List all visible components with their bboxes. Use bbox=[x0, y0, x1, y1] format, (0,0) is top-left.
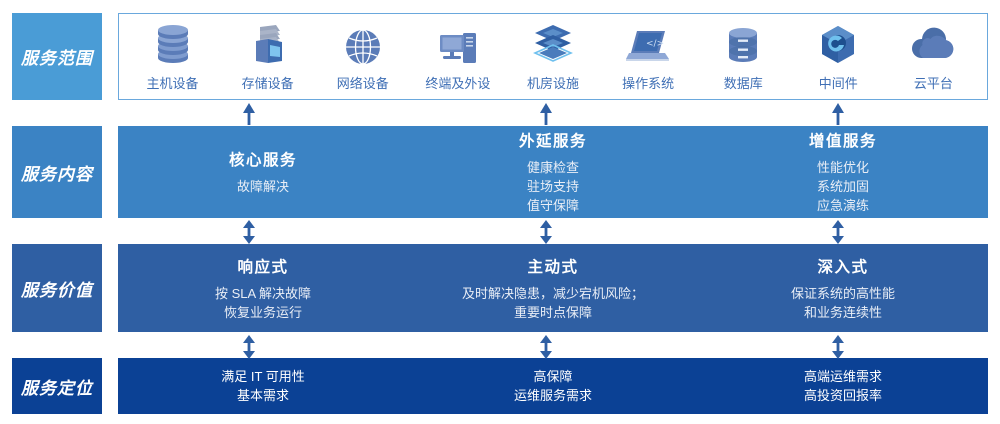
cell-title: 核心服务 bbox=[124, 148, 402, 170]
scope-caption: 主机设备 bbox=[147, 73, 199, 92]
content-cell-core[interactable]: 核心服务 故障解决 bbox=[118, 148, 408, 196]
service-framework-diagram: 服务范围 bbox=[0, 0, 1000, 424]
content-cell-extended[interactable]: 外延服务 健康检查 驻场支持 值守保障 bbox=[408, 129, 698, 215]
cell-line: 基本需求 bbox=[124, 386, 402, 405]
arrow-content-to-value-left bbox=[240, 219, 258, 245]
scope-item-network[interactable]: 网络设备 bbox=[317, 21, 409, 92]
scope-caption: 云平台 bbox=[914, 73, 953, 92]
row-label-position: 服务定位 bbox=[12, 358, 102, 414]
cube-middleware-icon bbox=[816, 21, 860, 67]
cell-title: 外延服务 bbox=[414, 129, 692, 151]
scope-panel: 主机设备 存储设备 bbox=[118, 13, 988, 100]
cell-line: 故障解决 bbox=[124, 177, 402, 196]
value-cell-indepth[interactable]: 深入式 保证系统的高性能 和业务连续性 bbox=[698, 255, 988, 322]
value-cell-proactive[interactable]: 主动式 及时解决隐患，减少宕机风险； 重要时点保障 bbox=[408, 255, 698, 322]
cell-title: 深入式 bbox=[704, 255, 982, 277]
content-cell-valueadd[interactable]: 增值服务 性能优化 系统加固 应急演练 bbox=[698, 129, 988, 215]
cell-line: 系统加固 bbox=[704, 177, 982, 196]
cloud-platform-icon bbox=[909, 21, 957, 67]
row-label-value-text: 服务价值 bbox=[21, 276, 93, 301]
cell-line: 高投资回报率 bbox=[704, 386, 982, 405]
cell-title: 响应式 bbox=[124, 255, 402, 277]
row-label-position-text: 服务定位 bbox=[21, 374, 93, 399]
row-label-scope-text: 服务范围 bbox=[21, 44, 93, 69]
arrow-scope-to-content-center bbox=[537, 101, 555, 125]
laptop-os-icon: </> bbox=[625, 21, 671, 67]
cell-line: 满足 IT 可用性 bbox=[124, 367, 402, 386]
arrow-content-to-value-center bbox=[537, 219, 555, 245]
row-label-content: 服务内容 bbox=[12, 126, 102, 218]
cell-line: 高保障 bbox=[414, 367, 692, 386]
cell-line: 和业务连续性 bbox=[704, 303, 982, 322]
svg-text:</>: </> bbox=[646, 39, 664, 49]
cell-title: 增值服务 bbox=[704, 129, 982, 151]
scope-item-datacenter[interactable]: 机房设施 bbox=[507, 21, 599, 92]
scope-item-host[interactable]: 主机设备 bbox=[127, 21, 219, 92]
server-stack-icon bbox=[151, 21, 195, 67]
cell-line: 运维服务需求 bbox=[414, 386, 692, 405]
scope-caption: 终端及外设 bbox=[425, 73, 490, 92]
scope-item-database[interactable]: 数据库 bbox=[697, 21, 789, 92]
value-cell-reactive[interactable]: 响应式 按 SLA 解决故障 恢复业务运行 bbox=[118, 255, 408, 322]
scope-caption: 机房设施 bbox=[527, 73, 579, 92]
row-label-scope: 服务范围 bbox=[12, 13, 102, 100]
data-center-facility-icon bbox=[530, 21, 576, 67]
cell-line: 恢复业务运行 bbox=[124, 303, 402, 322]
cell-line: 按 SLA 解决故障 bbox=[124, 284, 402, 303]
arrow-content-to-value-right bbox=[829, 219, 847, 245]
scope-caption: 操作系统 bbox=[622, 73, 674, 92]
cell-line: 应急演练 bbox=[704, 196, 982, 215]
scope-item-storage[interactable]: 存储设备 bbox=[222, 21, 314, 92]
cell-line: 性能优化 bbox=[704, 158, 982, 177]
cell-line: 高端运维需求 bbox=[704, 367, 982, 386]
desktop-peripheral-icon bbox=[435, 21, 481, 67]
scope-caption: 中间件 bbox=[819, 73, 858, 92]
storage-array-icon bbox=[246, 21, 290, 67]
cell-line: 保证系统的高性能 bbox=[704, 284, 982, 303]
content-panel: 核心服务 故障解决 外延服务 健康检查 驻场支持 值守保障 增值服务 性能优化 … bbox=[118, 126, 988, 218]
cell-line: 值守保障 bbox=[414, 196, 692, 215]
cell-line: 驻场支持 bbox=[414, 177, 692, 196]
scope-caption: 网络设备 bbox=[337, 73, 389, 92]
arrow-scope-to-content-left bbox=[240, 101, 258, 125]
value-panel: 响应式 按 SLA 解决故障 恢复业务运行 主动式 及时解决隐患，减少宕机风险；… bbox=[118, 244, 988, 332]
scope-item-terminal[interactable]: 终端及外设 bbox=[412, 21, 504, 92]
position-cell-assurance[interactable]: 高保障 运维服务需求 bbox=[408, 367, 698, 405]
globe-network-icon bbox=[342, 21, 384, 67]
position-cell-highend[interactable]: 高端运维需求 高投资回报率 bbox=[698, 367, 988, 405]
arrow-value-to-position-right bbox=[829, 334, 847, 360]
scope-caption: 数据库 bbox=[724, 73, 763, 92]
arrow-value-to-position-left bbox=[240, 334, 258, 360]
cell-line: 及时解决隐患，减少宕机风险； bbox=[414, 284, 692, 303]
arrow-value-to-position-center bbox=[537, 334, 555, 360]
database-cylinder-icon bbox=[723, 21, 763, 67]
cell-line: 健康检查 bbox=[414, 158, 692, 177]
position-cell-basic[interactable]: 满足 IT 可用性 基本需求 bbox=[118, 367, 408, 405]
scope-caption: 存储设备 bbox=[242, 73, 294, 92]
scope-item-cloud[interactable]: 云平台 bbox=[887, 21, 979, 92]
cell-title: 主动式 bbox=[414, 255, 692, 277]
scope-item-middleware[interactable]: 中间件 bbox=[792, 21, 884, 92]
scope-item-os[interactable]: </> 操作系统 bbox=[602, 21, 694, 92]
row-label-value: 服务价值 bbox=[12, 244, 102, 332]
row-label-content-text: 服务内容 bbox=[21, 160, 93, 185]
position-panel: 满足 IT 可用性 基本需求 高保障 运维服务需求 高端运维需求 高投资回报率 bbox=[118, 358, 988, 414]
cell-line: 重要时点保障 bbox=[414, 303, 692, 322]
arrow-scope-to-content-right bbox=[829, 101, 847, 125]
